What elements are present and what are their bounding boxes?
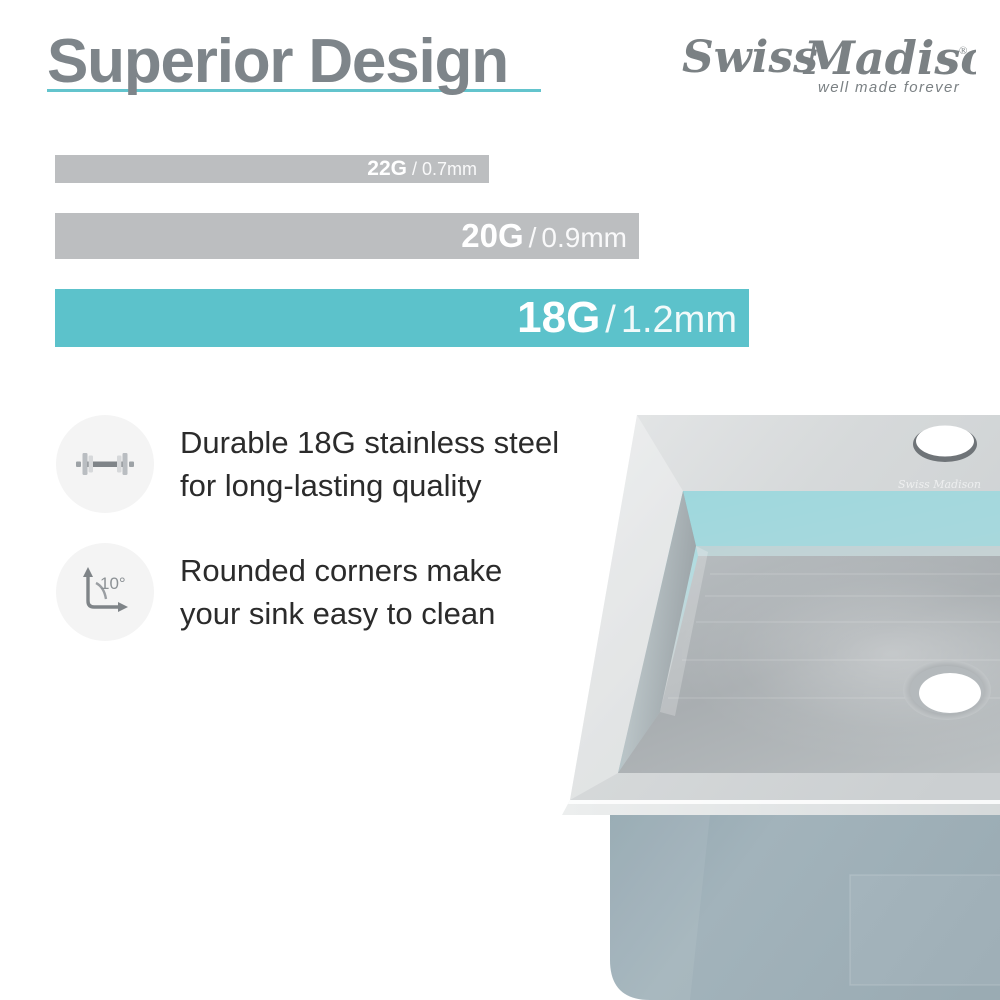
infographic-page: Superior Design Swiss Madison ® well mad… <box>0 0 1000 1000</box>
engraved-brand-text: Swiss Madison <box>898 478 981 491</box>
gauge-bar-22g-label: 22G / 0.7mm <box>367 157 489 181</box>
gauge-comparison-chart: 22G / 0.7mm 20G / 0.9mm 18G / 1.2mm <box>55 155 775 347</box>
drain-hole <box>903 660 991 720</box>
svg-text:Madison: Madison <box>802 31 976 85</box>
feature-text-rounded-corners: Rounded corners make your sink easy to c… <box>180 549 502 635</box>
registered-mark-glyph: ® <box>959 45 967 57</box>
product-image-sink: Swiss Madison <box>500 360 1000 1000</box>
gauge-thickness: 1.2mm <box>621 299 737 342</box>
svg-text:Swiss: Swiss <box>682 32 818 83</box>
angle-icon: 10° <box>56 543 154 641</box>
gauge-thickness: 0.9mm <box>541 222 627 254</box>
feature-line-1: Rounded corners make <box>180 553 502 588</box>
page-title: Superior Design <box>47 23 508 101</box>
gauge-value: 20G <box>461 217 523 255</box>
gauge-thickness: 0.7mm <box>422 159 477 180</box>
dumbbell-icon <box>56 415 154 513</box>
feature-line-2: your sink easy to clean <box>180 592 502 635</box>
gauge-separator: / <box>407 159 422 180</box>
gauge-bar-18g: 18G / 1.2mm <box>55 289 749 347</box>
angle-icon-label: 10° <box>100 574 126 593</box>
gauge-bar-18g-label: 18G / 1.2mm <box>517 293 749 343</box>
gauge-value: 18G <box>517 293 600 343</box>
gauge-bar-20g: 20G / 0.9mm <box>55 213 639 259</box>
svg-text:well made forever: well made forever <box>818 79 960 96</box>
brand-logo: Swiss Madison ® well made forever Swiss … <box>676 28 976 100</box>
gauge-bar-20g-label: 20G / 0.9mm <box>461 217 639 255</box>
page-header: Superior Design <box>47 23 567 105</box>
gauge-separator: / <box>524 222 542 254</box>
gauge-bar-22g: 22G / 0.7mm <box>55 155 489 183</box>
gauge-value: 22G <box>367 157 407 181</box>
gauge-separator: / <box>600 299 621 342</box>
